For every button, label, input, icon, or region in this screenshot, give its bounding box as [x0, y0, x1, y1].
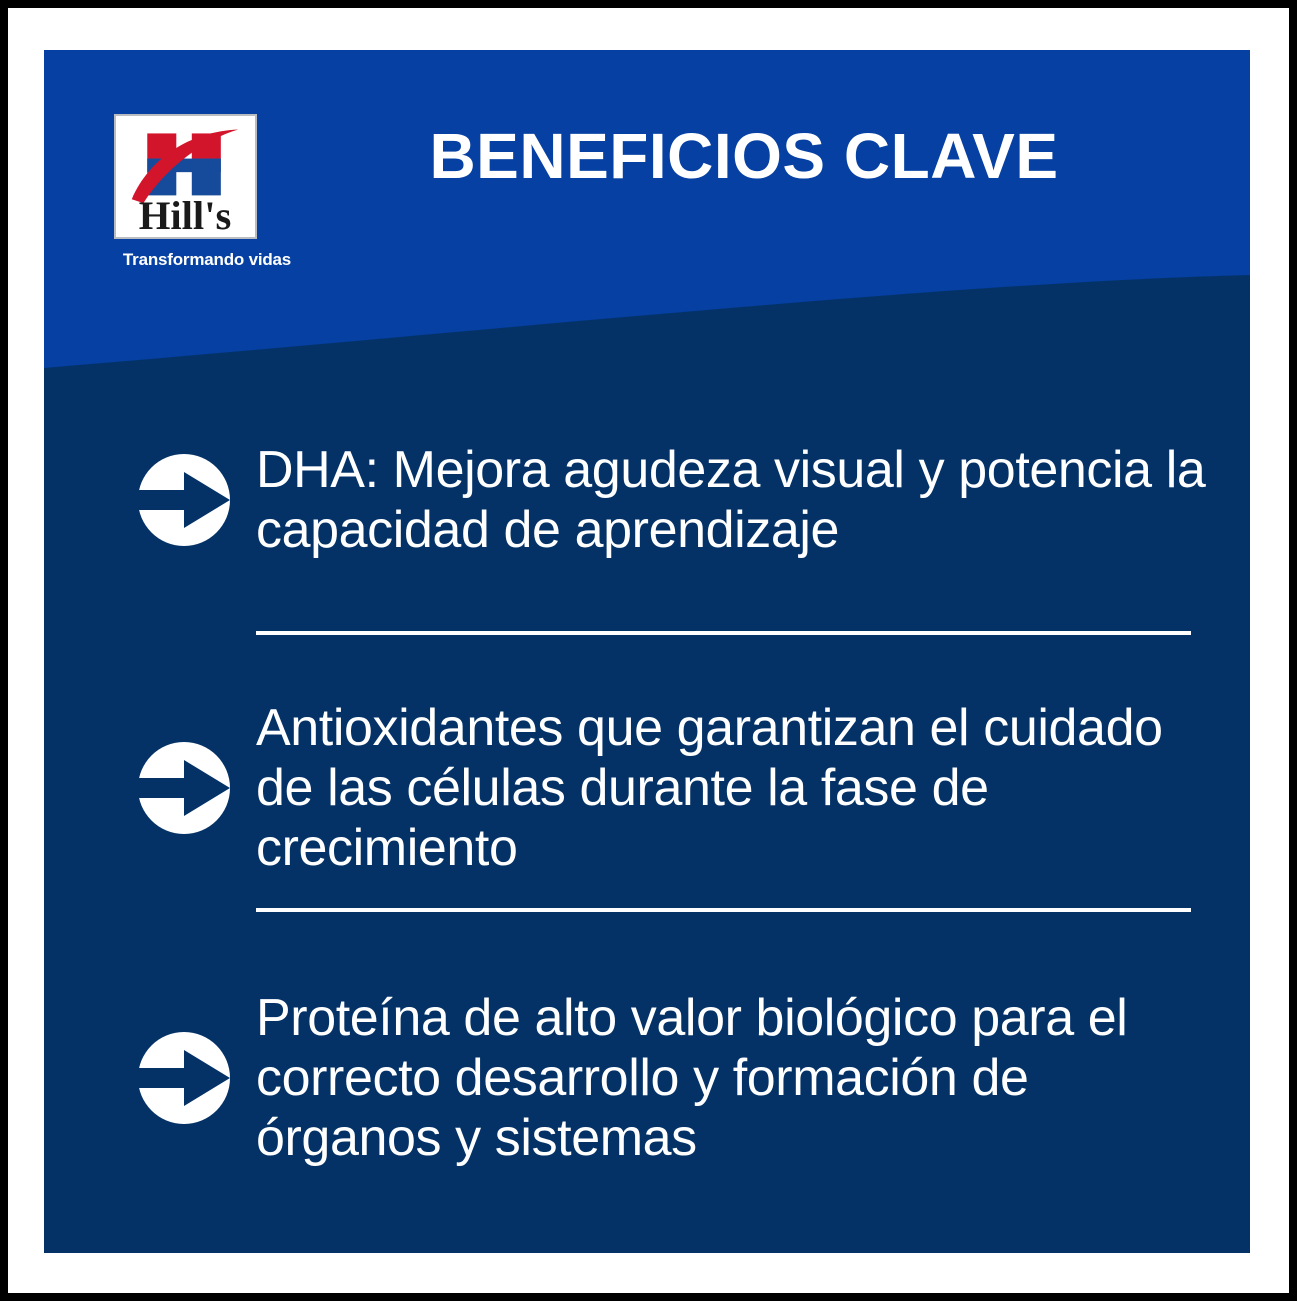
benefit-divider-2 — [256, 908, 1191, 912]
arrow-right-circle-icon — [134, 450, 234, 550]
benefit-text-2: Antioxidantes que garantizan el cuidado … — [256, 698, 1214, 879]
benefit-item-3: Proteína de alto valor biológico para el… — [134, 968, 1214, 1188]
arrow-right-circle-icon — [134, 1028, 234, 1128]
benefit-text-3: Proteína de alto valor biológico para el… — [256, 988, 1214, 1169]
benefit-item-2: Antioxidantes que garantizan el cuidado … — [134, 678, 1214, 898]
benefits-card: Hill's Transformando vidas BENEFICIOS CL… — [44, 50, 1250, 1253]
arrow-right-circle-icon — [134, 738, 234, 838]
benefit-item-1: DHA: Mejora agudeza visual y potencia la… — [134, 390, 1214, 610]
benefit-divider-1 — [256, 631, 1191, 635]
benefits-list: DHA: Mejora agudeza visual y potencia la… — [44, 50, 1250, 1253]
benefit-text-1: DHA: Mejora agudeza visual y potencia la… — [256, 440, 1214, 561]
image-frame: Hill's Transformando vidas BENEFICIOS CL… — [0, 0, 1297, 1301]
